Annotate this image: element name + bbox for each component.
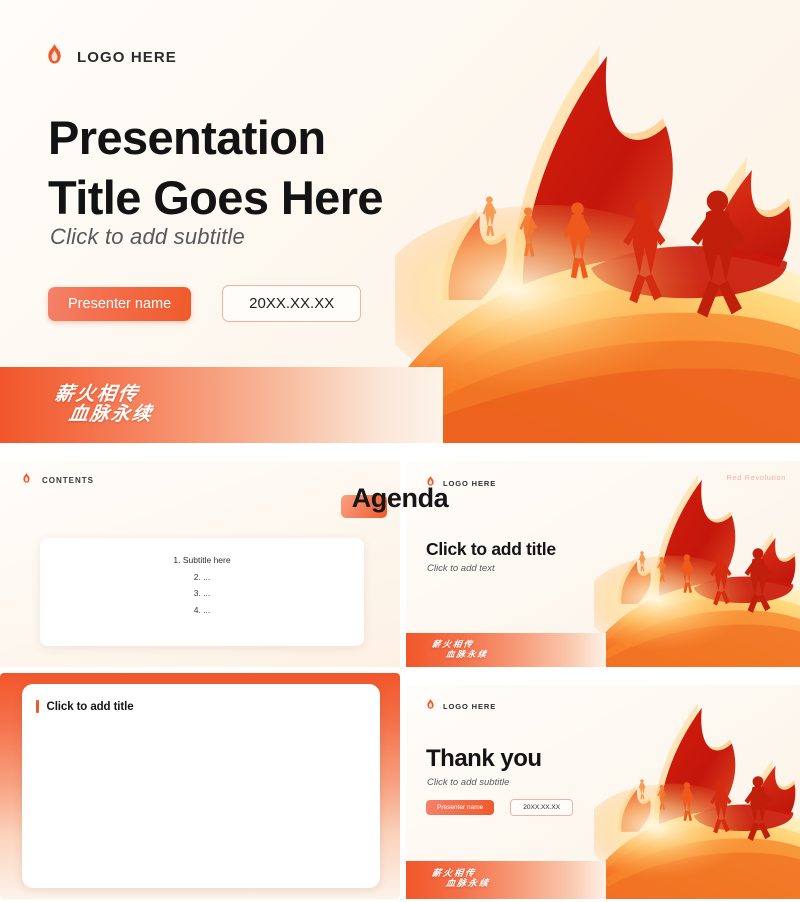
content-title[interactable]: Click to add title <box>426 539 556 560</box>
page-title[interactable]: Presentation Title Goes Here <box>48 108 383 228</box>
slide-title[interactable]: LOGO HERE Presentation Title Goes Here C… <box>0 0 800 443</box>
list-item[interactable]: 1. Subtitle here <box>40 552 364 569</box>
list-item[interactable]: 2. ... <box>40 569 364 586</box>
list-item[interactable]: 4. ... <box>40 602 364 619</box>
thanks-title[interactable]: Thank you <box>426 745 542 773</box>
blank-content-card[interactable] <box>22 684 380 888</box>
page-subtitle[interactable]: Click to add subtitle <box>50 224 245 250</box>
calligraphy-slogan: 薪火相传 血脉永续 <box>55 385 153 424</box>
thanks-subtitle[interactable]: Click to add subtitle <box>427 777 509 788</box>
hero-meta-row: Presenter name 20XX.XX.XX <box>48 285 361 322</box>
slogan-line-1: 薪火相传 <box>53 385 154 404</box>
thanks-logo[interactable]: LOGO HERE <box>426 697 496 715</box>
slogan-line-2: 血脉永续 <box>445 879 490 888</box>
thanks-footer-ribbon: 薪火相传 血脉永续 <box>406 861 606 899</box>
accent-tick-icon <box>36 700 39 713</box>
presenter-name-button[interactable]: Presenter name <box>426 800 494 815</box>
agenda-title[interactable]: Agenda <box>352 483 449 514</box>
date-field[interactable]: 20XX.XX.XX <box>510 799 573 816</box>
date-field[interactable]: 20XX.XX.XX <box>222 285 361 322</box>
slogan-line-2: 血脉永续 <box>445 650 488 659</box>
agenda-corner-label: Red Revolution <box>726 473 786 482</box>
content-footer-ribbon: 薪火相传 血脉永续 <box>406 633 606 667</box>
agenda-list: 1. Subtitle here 2. ... 3. ... 4. ... <box>40 552 364 618</box>
calligraphy-slogan: 薪火相传 血脉永续 <box>432 640 488 658</box>
presenter-name-button[interactable]: Presenter name <box>48 287 191 321</box>
list-item[interactable]: 3. ... <box>40 585 364 602</box>
hero-logo[interactable]: LOGO HERE <box>46 44 177 71</box>
agenda-title-wrap: Agenda <box>0 483 800 514</box>
slogan-line-1: 薪火相传 <box>431 869 490 878</box>
blank-slide-title[interactable]: Click to add title <box>47 701 134 713</box>
slogan-line-2: 血脉永续 <box>67 405 154 424</box>
flame-runners-illustration <box>594 685 800 899</box>
calligraphy-slogan: 薪火相传 血脉永续 <box>432 869 490 888</box>
content-body-text[interactable]: Click to add text <box>427 563 495 574</box>
flame-icon <box>426 697 435 715</box>
flame-icon <box>46 44 63 71</box>
blank-title-row: Click to add title <box>36 700 134 713</box>
slide-deck-preview: LOGO HERE Presentation Title Goes Here C… <box>0 0 800 902</box>
flame-runners-illustration <box>395 0 800 443</box>
slogan-line-1: 薪火相传 <box>431 640 488 649</box>
thanks-logo-label: LOGO HERE <box>443 702 496 711</box>
thanks-meta-row: Presenter name 20XX.XX.XX <box>426 799 573 816</box>
agenda-card[interactable]: 1. Subtitle here 2. ... 3. ... 4. ... <box>40 538 364 646</box>
slide-thank-you[interactable]: LOGO HERE Thank you Click to add subtitl… <box>406 685 800 899</box>
hero-logo-label: LOGO HERE <box>77 49 177 66</box>
hero-footer-ribbon: 薪火相传 血脉永续 <box>0 367 443 443</box>
